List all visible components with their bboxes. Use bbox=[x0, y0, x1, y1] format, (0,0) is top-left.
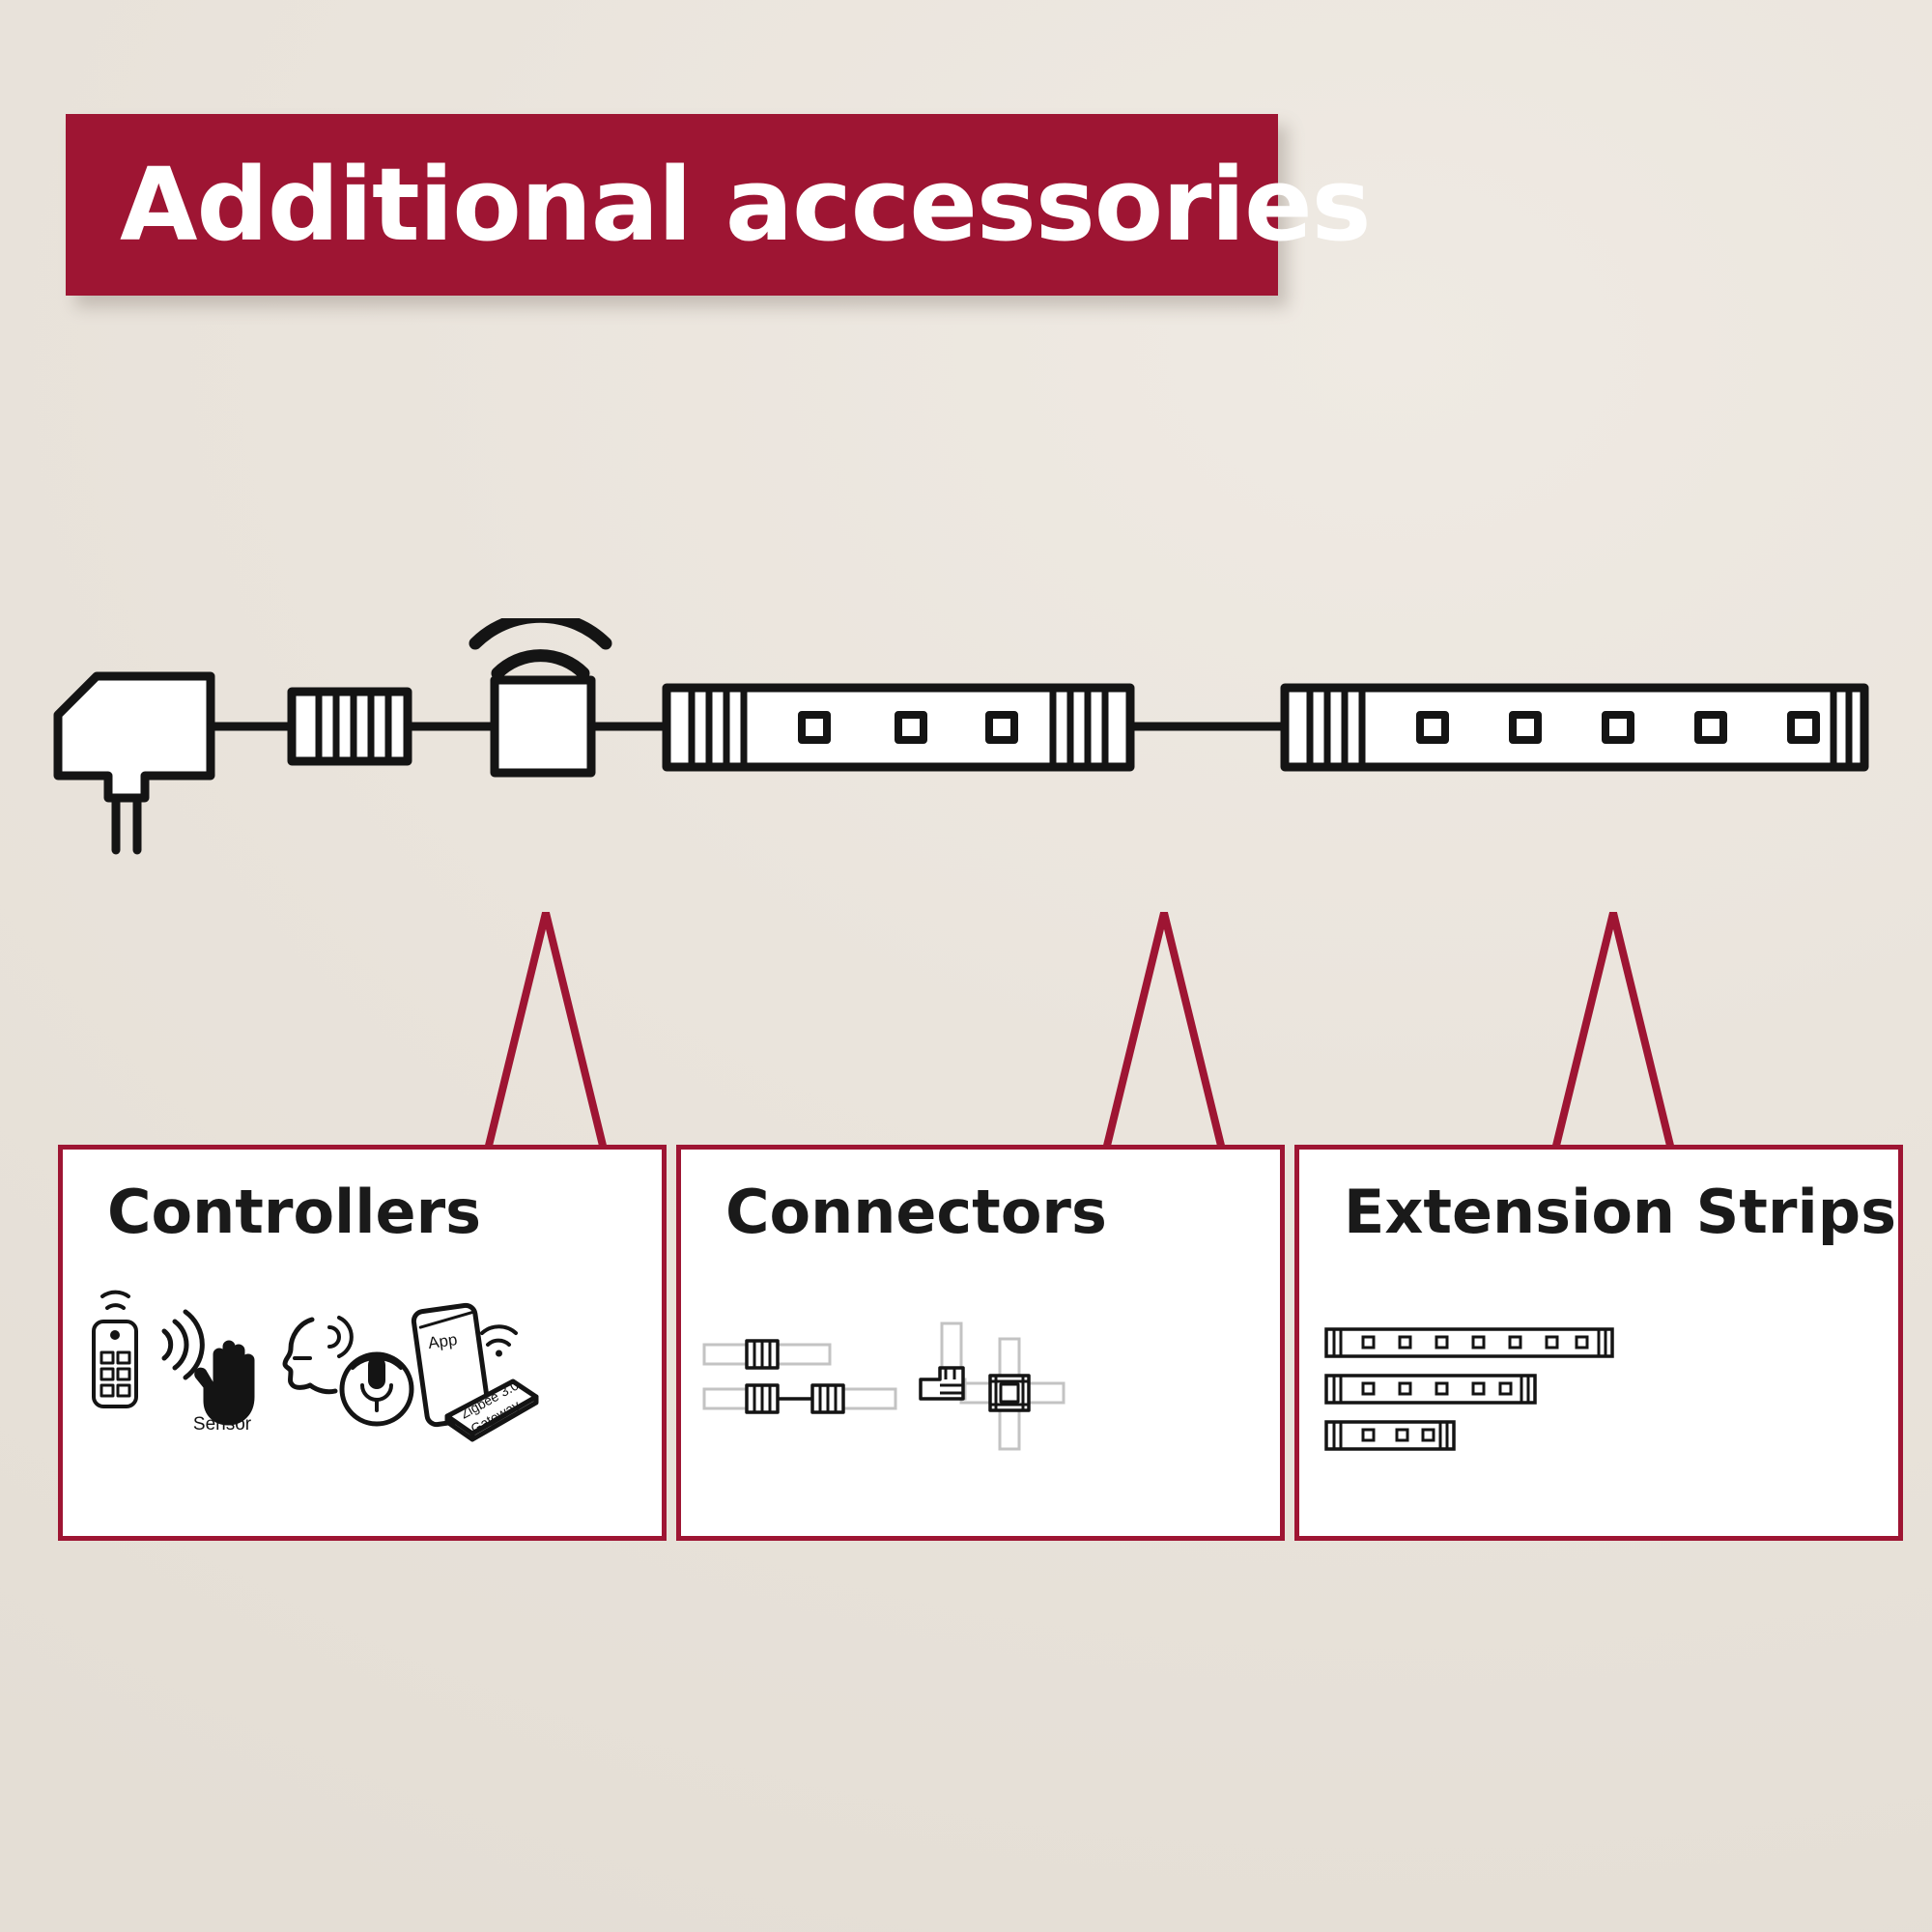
callout-box-controllers: Controllers bbox=[58, 1145, 667, 1541]
extension-strips-icon-group bbox=[1299, 1275, 1898, 1526]
pointer-connectors bbox=[1106, 913, 1222, 1150]
extension-strip-short-icon bbox=[1326, 1422, 1454, 1449]
controllers-icon-group: Sensor bbox=[63, 1275, 662, 1526]
wifi-icon bbox=[475, 618, 606, 673]
extension-strip-long-icon bbox=[1326, 1329, 1612, 1356]
remote-control-icon bbox=[94, 1293, 136, 1406]
box-title-extension: Extension Strips bbox=[1344, 1177, 1896, 1247]
cross-connector-icon bbox=[990, 1376, 1029, 1410]
wifi-controller-icon bbox=[495, 680, 591, 773]
corner-connector-icon bbox=[921, 1368, 963, 1399]
sensor-label: Sensor bbox=[193, 1414, 252, 1435]
box-title-connectors: Connectors bbox=[725, 1177, 1107, 1247]
pointer-controllers bbox=[488, 913, 604, 1150]
box-title-controllers: Controllers bbox=[107, 1177, 481, 1247]
system-schematic bbox=[0, 618, 1932, 908]
callout-box-connectors: Connectors bbox=[676, 1145, 1285, 1541]
callout-box-extension: Extension Strips bbox=[1294, 1145, 1903, 1541]
extension-strip-medium-icon bbox=[1326, 1376, 1535, 1403]
led-strip-segment-2 bbox=[1285, 688, 1864, 767]
pointer-extension bbox=[1555, 913, 1671, 1150]
title-banner: Additional accessories bbox=[66, 114, 1278, 296]
power-supply-icon bbox=[58, 676, 211, 850]
page-title: Additional accessories bbox=[66, 155, 1371, 255]
motion-sensor-icon bbox=[164, 1312, 253, 1424]
voice-control-icon bbox=[285, 1318, 412, 1424]
cable-connector-icon bbox=[292, 692, 408, 761]
led-strip-segment-1 bbox=[667, 688, 1130, 767]
poster-canvas: Additional accessories bbox=[0, 0, 1932, 1932]
app-wifi-icon bbox=[482, 1326, 516, 1356]
connectors-icon-group bbox=[681, 1275, 1280, 1526]
